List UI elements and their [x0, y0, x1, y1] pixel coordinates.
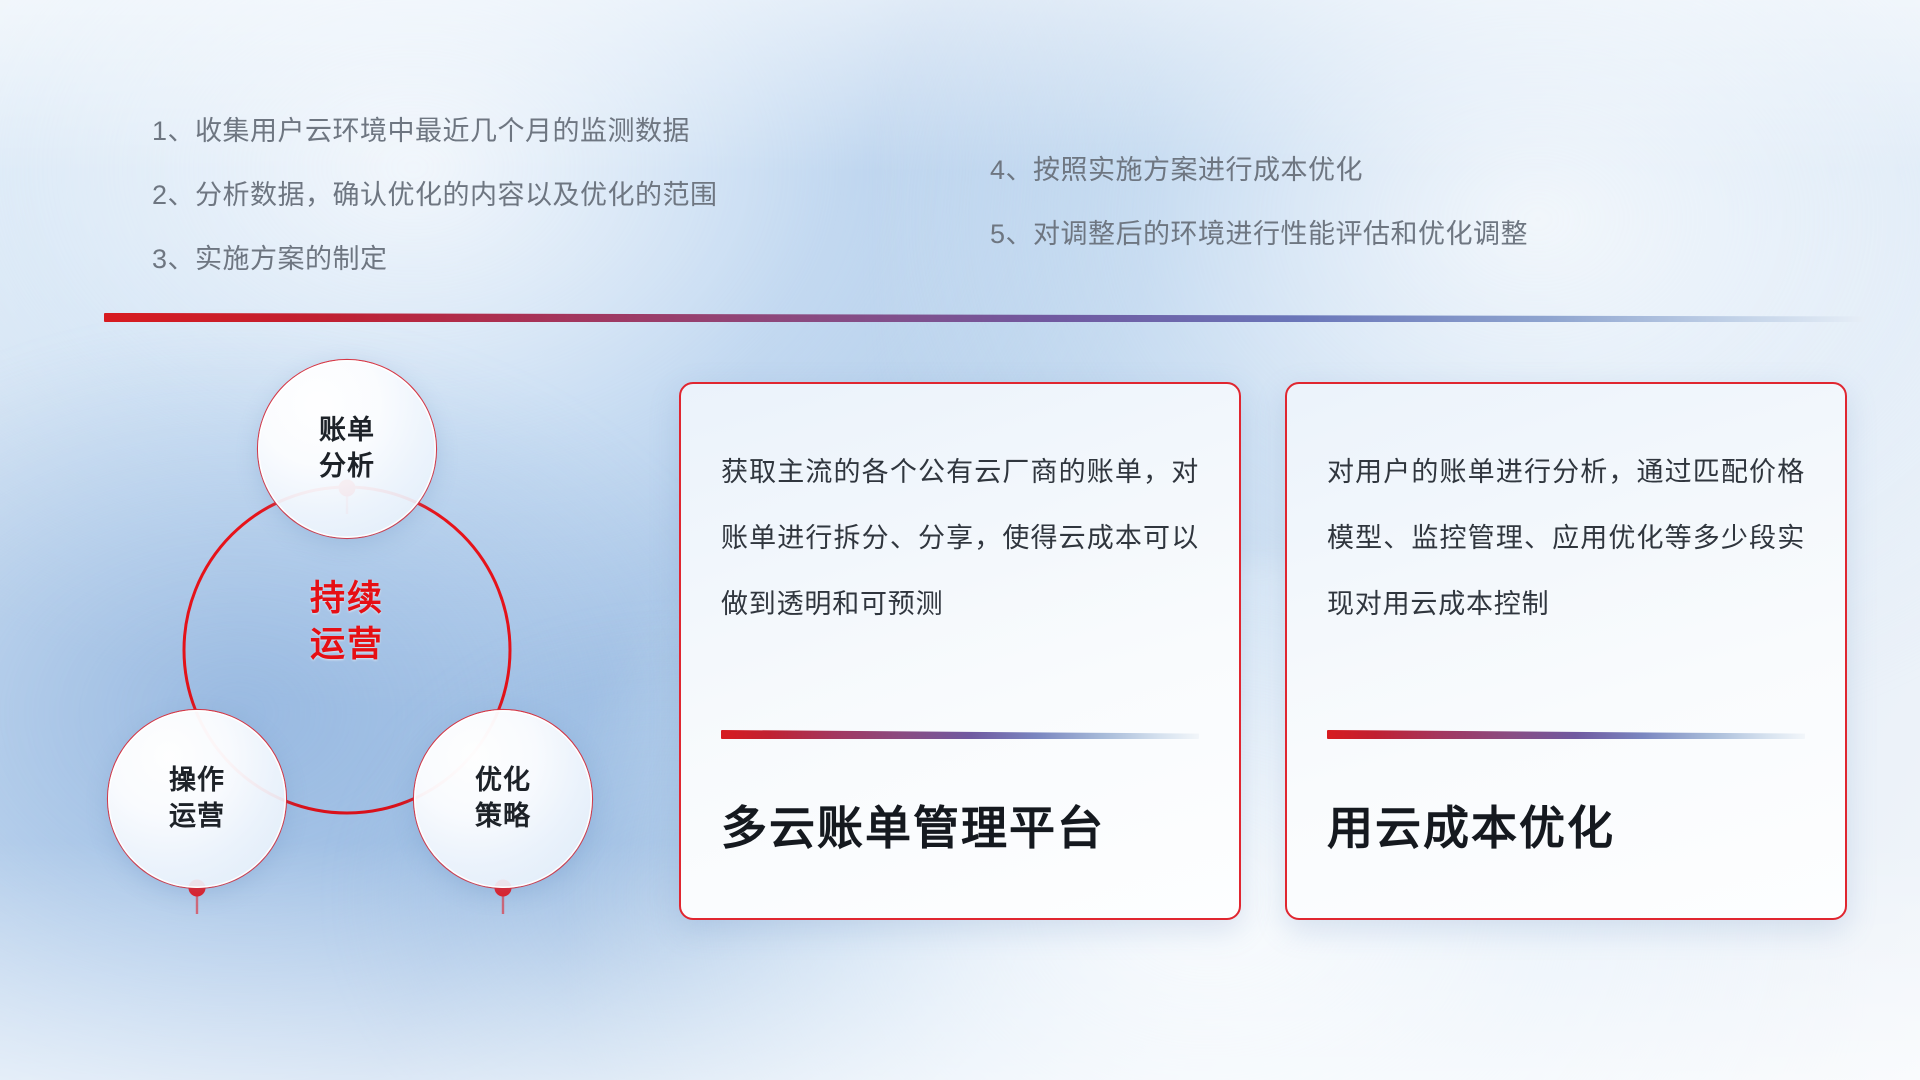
card-divider: [1327, 730, 1805, 739]
diagram-node-billing-analysis[interactable]: 账单 分析: [258, 360, 436, 538]
steps-right-column: 4、按照实施方案进行成本优化 5、对调整后的环境进行性能评估和优化调整: [990, 157, 1528, 285]
center-label-line2: 运营: [256, 622, 438, 668]
card-title: 多云账单管理平台: [721, 801, 1199, 856]
feature-card-multi-cloud-billing-platform[interactable]: 获取主流的各个公有云厂商的账单，对账单进行拆分、分享，使得云成本可以做到透明和可…: [679, 382, 1241, 920]
diagram-node-optimization-strategy[interactable]: 优化 策略: [414, 710, 592, 888]
diagram-center-label: 持续 运营: [256, 576, 438, 667]
center-label-line1: 持续: [256, 576, 438, 622]
node-label-line2: 运营: [169, 799, 225, 835]
card-title: 用云成本优化: [1327, 801, 1805, 856]
steps-section: 1、收集用户云环境中最近几个月的监测数据 2、分析数据，确认优化的内容以及优化的…: [0, 0, 1920, 300]
step-item-4: 4、按照实施方案进行成本优化: [990, 157, 1528, 184]
steps-left-column: 1、收集用户云环境中最近几个月的监测数据 2、分析数据，确认优化的内容以及优化的…: [152, 118, 718, 310]
card-description: 获取主流的各个公有云厂商的账单，对账单进行拆分、分享，使得云成本可以做到透明和可…: [721, 440, 1199, 716]
divider-gradient-bar: [104, 313, 1864, 322]
step-item-3: 3、实施方案的制定: [152, 246, 718, 273]
card-divider: [721, 730, 1199, 739]
node-label-line2: 分析: [319, 449, 375, 485]
node-label-line2: 策略: [475, 799, 531, 835]
step-item-1: 1、收集用户云环境中最近几个月的监测数据: [152, 118, 718, 145]
feature-card-cloud-cost-optimization[interactable]: 对用户的账单进行分析，通过匹配价格模型、监控管理、应用优化等多少段实现对用云成本…: [1285, 382, 1847, 920]
step-item-5: 5、对调整后的环境进行性能评估和优化调整: [990, 221, 1528, 248]
diagram-node-operation-management[interactable]: 操作 运营: [108, 710, 286, 888]
node-label-line1: 操作: [169, 763, 225, 799]
step-item-2: 2、分析数据，确认优化的内容以及优化的范围: [152, 182, 718, 209]
section-divider: [104, 313, 1864, 322]
node-label-line1: 账单: [319, 413, 375, 449]
card-description: 对用户的账单进行分析，通过匹配价格模型、监控管理、应用优化等多少段实现对用云成本…: [1327, 440, 1805, 716]
continuous-operation-diagram: 账单 分析 操作 运营 优化 策略 持续 运营: [96, 348, 656, 948]
node-label-line1: 优化: [475, 763, 531, 799]
